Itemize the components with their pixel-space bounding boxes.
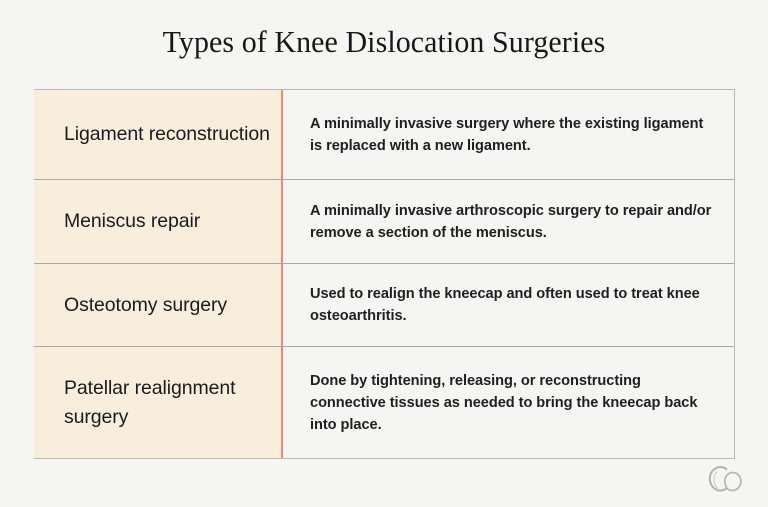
surgery-description-text: A minimally invasive arthroscopic surger… (310, 200, 716, 244)
table-cell-term: Meniscus repair (34, 180, 283, 263)
surgery-type-label: Patellar realignment surgery (64, 374, 281, 432)
surgery-description-text: Done by tightening, releasing, or recons… (310, 370, 716, 436)
surgery-description-text: A minimally invasive surgery where the e… (310, 113, 716, 157)
surgery-description-text: Used to realign the kneecap and often us… (310, 283, 716, 327)
page-title: Types of Knee Dislocation Surgeries (13, 23, 754, 61)
table-cell-description: Used to realign the kneecap and often us… (283, 264, 734, 346)
table-cell-description: A minimally invasive surgery where the e… (283, 90, 734, 179)
infographic-canvas: Types of Knee Dislocation Surgeries Liga… (0, 0, 768, 507)
surgery-types-table: Ligament reconstruction A minimally inva… (34, 89, 735, 459)
table-row: Ligament reconstruction A minimally inva… (34, 90, 734, 179)
table-row: Patellar realignment surgery Done by tig… (34, 346, 734, 458)
table-cell-description: A minimally invasive arthroscopic surger… (283, 180, 734, 263)
surgery-type-label: Osteotomy surgery (64, 291, 227, 320)
co-monogram-logo-icon (704, 464, 752, 498)
table-cell-description: Done by tightening, releasing, or recons… (283, 347, 734, 458)
surgery-type-label: Ligament reconstruction (64, 120, 270, 149)
table-row: Meniscus repair A minimally invasive art… (34, 179, 734, 263)
table-cell-term: Osteotomy surgery (34, 264, 283, 346)
table-cell-term: Ligament reconstruction (34, 90, 283, 179)
table-row: Osteotomy surgery Used to realign the kn… (34, 263, 734, 346)
surgery-type-label: Meniscus repair (64, 207, 200, 236)
table-cell-term: Patellar realignment surgery (34, 347, 283, 458)
